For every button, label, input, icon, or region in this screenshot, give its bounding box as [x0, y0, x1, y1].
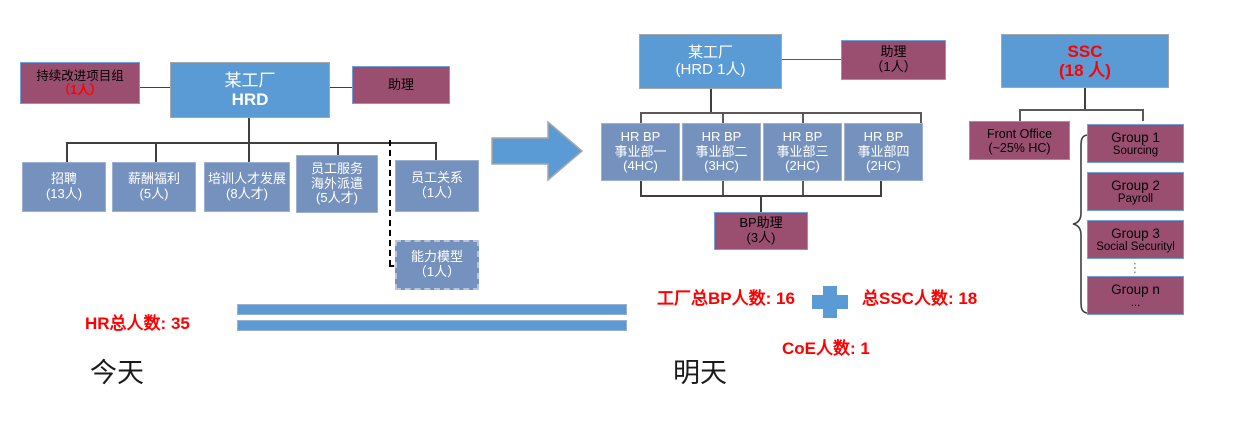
box-line3: (5人才): [316, 191, 358, 206]
box-line2: (8人才): [226, 187, 268, 202]
box-hrbp-division-2[interactable]: HR BP 事业部二 (3HC): [682, 123, 761, 181]
label-bp-total: 工厂总BP人数: 16: [657, 284, 795, 309]
box-front-office[interactable]: Front Office (~25% HC): [969, 121, 1070, 160]
box-line1: 培训人才发展: [208, 172, 286, 187]
connector-bp4-down: [880, 181, 882, 196]
box-line2: (18 人): [1059, 61, 1111, 80]
box-line2: Payroll: [1118, 193, 1153, 206]
connector-bp2-down: [722, 181, 724, 196]
box-function-recruitment[interactable]: 招聘 (13人): [22, 162, 106, 212]
connector-ssc-stem: [1084, 88, 1086, 110]
box-line2: 事业部二: [695, 145, 747, 160]
connector-bp-assistant-stem: [760, 195, 762, 213]
box-function-training[interactable]: 培训人才发展 (8人才): [204, 162, 290, 212]
box-line2: (~25% HC): [988, 141, 1050, 155]
plus-icon: [811, 285, 849, 319]
box-line3: (4HC): [623, 159, 658, 174]
box-line1: 能力模型: [411, 250, 463, 265]
timeline-bar-upper: [237, 304, 627, 315]
box-line2: （1人）: [870, 60, 916, 75]
box-line1: 员工服务: [311, 162, 363, 177]
box-line1: Group 2: [1111, 178, 1160, 193]
connector-drop-front-office: [1019, 109, 1021, 121]
box-line1: Front Office: [987, 127, 1052, 141]
box-line2: 事业部一: [614, 145, 666, 160]
box-line1: Group 3: [1111, 226, 1160, 241]
box-line1: SSC: [1068, 42, 1103, 61]
ellipsis-icon: ⋮: [1087, 261, 1184, 274]
box-line2: 海外派遣: [311, 177, 363, 192]
box-line1: 助理: [388, 78, 414, 93]
connector-hrd2-stem: [710, 89, 712, 113]
box-line1: Group n: [1111, 282, 1160, 297]
box-line3: (2HC): [866, 159, 901, 174]
box-factory-hrd-tomorrow[interactable]: 某工厂 (HRD 1人): [639, 34, 782, 89]
org-chart-diagram: 持续改进项目组 （1人） 某工厂 HRD 助理 招聘 (13人) 薪酬福利 (5…: [0, 0, 1243, 442]
connector-hrd-to-assistant: [330, 87, 352, 88]
connector-drop-group1: [1142, 109, 1144, 121]
connector-bp1-down: [640, 181, 642, 196]
connector-bp-bus: [640, 112, 922, 114]
box-line3: (3HC): [704, 159, 739, 174]
box-function-compensation[interactable]: 薪酬福利 (5人): [112, 162, 196, 212]
box-assistant-tomorrow[interactable]: 助理 （1人）: [841, 40, 946, 80]
box-line1: HR BP: [783, 130, 823, 145]
connector-drop-comp: [155, 142, 157, 162]
connector-ssc-bus: [1019, 109, 1144, 111]
label-coe-total: CoE人数: 1: [782, 334, 870, 359]
box-bp-assistant[interactable]: BP助理 (3人): [714, 212, 808, 250]
box-line1: 某工厂: [225, 71, 276, 90]
box-line2: HRD: [232, 90, 269, 109]
dashed-separator-line: [389, 140, 391, 266]
box-ssc-group-1[interactable]: Group 1 Sourcing: [1087, 124, 1184, 163]
box-line1: 员工关系: [411, 171, 463, 186]
label-today: 今天: [90, 351, 144, 390]
connector-drop-relations: [435, 142, 437, 162]
box-line2: （1人）: [58, 83, 102, 97]
box-line1: 薪酬福利: [128, 172, 180, 187]
box-line3: (2HC): [785, 159, 820, 174]
box-ssc-header[interactable]: SSC (18 人): [1001, 34, 1169, 88]
connector-drop-training: [248, 142, 250, 162]
label-tomorrow: 明天: [673, 351, 727, 390]
box-line2: (5人): [140, 187, 169, 202]
box-line1: 助理: [880, 45, 906, 60]
connector-hrd2-to-assistant: [781, 59, 841, 60]
box-hrbp-division-1[interactable]: HR BP 事业部一 (4HC): [601, 123, 680, 181]
box-line1: BP助理: [739, 216, 782, 231]
box-ssc-group-2[interactable]: Group 2 Payroll: [1087, 172, 1184, 211]
connector-drop-recruit: [66, 142, 68, 162]
box-line1: Group 1: [1111, 130, 1160, 145]
box-function-employee-service[interactable]: 员工服务 海外派遣 (5人才): [296, 155, 378, 213]
box-line2: ...: [1131, 297, 1141, 310]
box-line2: （1人）: [414, 186, 460, 201]
box-line2: 事业部四: [857, 145, 909, 160]
box-line2: Sourcing: [1113, 145, 1158, 158]
box-line2: (HRD 1人): [676, 62, 746, 79]
box-competency-model[interactable]: 能力模型 （1人）: [395, 240, 479, 290]
group-brace: [1072, 133, 1088, 315]
box-hrbp-division-3[interactable]: HR BP 事业部三 (2HC): [763, 123, 842, 181]
box-factory-hrd[interactable]: 某工厂 HRD: [170, 62, 330, 118]
label-hr-total-headcount: HR总人数: 35: [85, 309, 190, 334]
box-function-employee-relations[interactable]: 员工关系 （1人）: [395, 160, 479, 212]
box-line1: 招聘: [51, 172, 77, 187]
transition-arrow-icon: [490, 118, 584, 184]
box-line1: HR BP: [864, 130, 904, 145]
box-line1: 持续改进项目组: [36, 69, 124, 83]
box-line1: HR BP: [702, 130, 742, 145]
timeline-bar-lower: [237, 320, 627, 331]
box-line2: (13人): [46, 187, 82, 202]
box-line1: 某工厂: [688, 45, 733, 62]
box-ssc-group-n[interactable]: Group n ...: [1087, 276, 1184, 315]
box-line2: （1人）: [414, 265, 460, 280]
connector-hrd-stem: [248, 117, 250, 143]
box-assistant-today[interactable]: 助理: [352, 66, 450, 104]
box-hrbp-division-4[interactable]: HR BP 事业部四 (2HC): [844, 123, 923, 181]
connector-project-to-hrd: [140, 87, 170, 88]
connector-function-bus: [66, 142, 437, 144]
label-ssc-total: 总SSC人数: 18: [862, 284, 977, 309]
box-ssc-group-3[interactable]: Group 3 Social Securityl: [1087, 220, 1184, 259]
box-line2: (3人): [747, 231, 776, 246]
box-line2: Social Securityl: [1096, 241, 1175, 254]
box-line2: 事业部三: [776, 145, 828, 160]
connector-bp3-down: [802, 181, 804, 196]
box-line1: HR BP: [621, 130, 661, 145]
box-continuous-improvement-team[interactable]: 持续改进项目组 （1人）: [20, 62, 140, 104]
